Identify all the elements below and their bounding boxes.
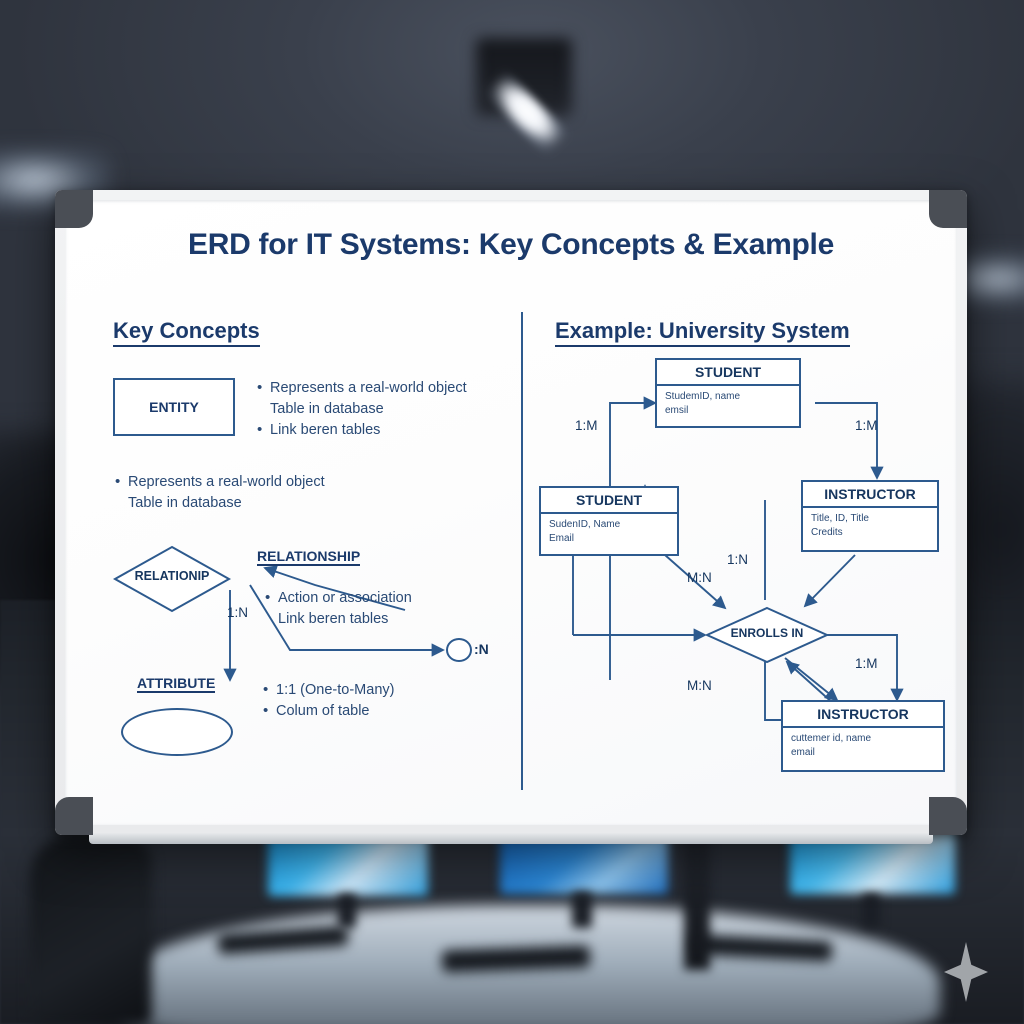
enrolls-in-diamond-shape: ENROLLS IN: [705, 606, 829, 664]
oval-cardinality-label: :N: [474, 641, 489, 657]
entity-shape-label: ENTITY: [149, 399, 199, 415]
section-heading-key-concepts: Key Concepts: [113, 318, 260, 347]
bullet-continuation: Link beren tables: [263, 609, 513, 630]
entity-card-title: INSTRUCTOR: [803, 482, 937, 508]
relationship-diamond-label: RELATIONIP: [113, 569, 231, 583]
section-heading-example: Example: University System: [555, 318, 850, 347]
bullet-continuation: Table in database: [255, 399, 505, 420]
frame-corner-top-right: [929, 190, 967, 228]
relationship-diamond-shape: RELATIONIP: [113, 545, 231, 613]
marker-tray: [89, 833, 933, 844]
attribute-heading: ATTRIBUTE: [137, 675, 215, 693]
entity-attribute: Email: [549, 532, 669, 546]
cardinality-top-left: 1:M: [575, 418, 598, 433]
entity-attribute: email: [791, 746, 935, 760]
entity-attribute: Title, ID, Title: [811, 512, 929, 526]
entity-card-student-top: STUDENT StudemID, name emsil: [655, 358, 801, 428]
page-title: ERD for IT Systems: Key Concepts & Examp…: [65, 228, 957, 262]
relationship-bullet-list: Action or association Link beren tables: [263, 588, 513, 630]
entity-attribute: SudenID, Name: [549, 518, 669, 532]
column-divider: [521, 312, 523, 790]
bullet-continuation: Table in database: [113, 493, 383, 514]
entity-attribute: StudemID, name: [665, 390, 791, 404]
monitor-stand: [572, 892, 592, 928]
bullet-item: 1:1 (One-to-Many): [261, 680, 511, 701]
frame-corner-top-left: [55, 190, 93, 228]
small-oval-shape: [446, 638, 472, 662]
cardinality-label-1n: 1:N: [227, 605, 248, 620]
monitor-stand: [862, 894, 880, 928]
entity-attribute: Credits: [811, 526, 929, 540]
cardinality-top-right: 1:M: [855, 418, 878, 433]
entity-card-student-mid: STUDENT SudenID, Name Email: [539, 486, 679, 556]
bullet-item: Action or association: [263, 588, 513, 609]
attribute-ellipse-shape: [121, 708, 233, 756]
bullet-item: Represents a real-world object: [255, 378, 505, 399]
relationship-heading: RELATIONSHIP: [257, 548, 360, 566]
whiteboard: ERD for IT Systems: Key Concepts & Examp…: [55, 190, 967, 835]
bullet-item: Link beren tables: [255, 420, 505, 441]
entity-card-title: INSTRUCTOR: [783, 702, 943, 728]
whiteboard-surface: ERD for IT Systems: Key Concepts & Examp…: [65, 200, 957, 825]
attribute-bullet-list: 1:1 (One-to-Many) Colum of table: [261, 680, 511, 722]
entity-attribute: cuttemer id, name: [791, 732, 935, 746]
office-chair: [30, 836, 152, 1024]
monitor-stand: [338, 894, 356, 928]
frame-corner-bottom-left: [55, 797, 93, 835]
entity-shape: ENTITY: [113, 378, 235, 436]
entity-card-title: STUDENT: [657, 360, 799, 386]
entity-card-instructor-mid: INSTRUCTOR Title, ID, Title Credits: [801, 480, 939, 552]
cardinality-mid-center: 1:N: [727, 552, 748, 567]
mid-bullet-list: Represents a real-world object Table in …: [113, 472, 383, 514]
entity-attribute: emsil: [665, 404, 791, 418]
frame-corner-bottom-right: [929, 797, 967, 835]
enrolls-in-label: ENROLLS IN: [705, 626, 829, 640]
bullet-item: Represents a real-world object: [113, 472, 383, 493]
cardinality-lower-left: M:N: [687, 678, 712, 693]
entity-bullet-list: Represents a real-world object Table in …: [255, 378, 505, 441]
entity-card-title: STUDENT: [541, 488, 677, 514]
cardinality-lower-right: 1:M: [855, 656, 878, 671]
entity-card-instructor-bottom: INSTRUCTOR cuttemer id, name email: [781, 700, 945, 772]
cardinality-mid-left: M:N: [687, 570, 712, 585]
bullet-item: Colum of table: [261, 701, 511, 722]
